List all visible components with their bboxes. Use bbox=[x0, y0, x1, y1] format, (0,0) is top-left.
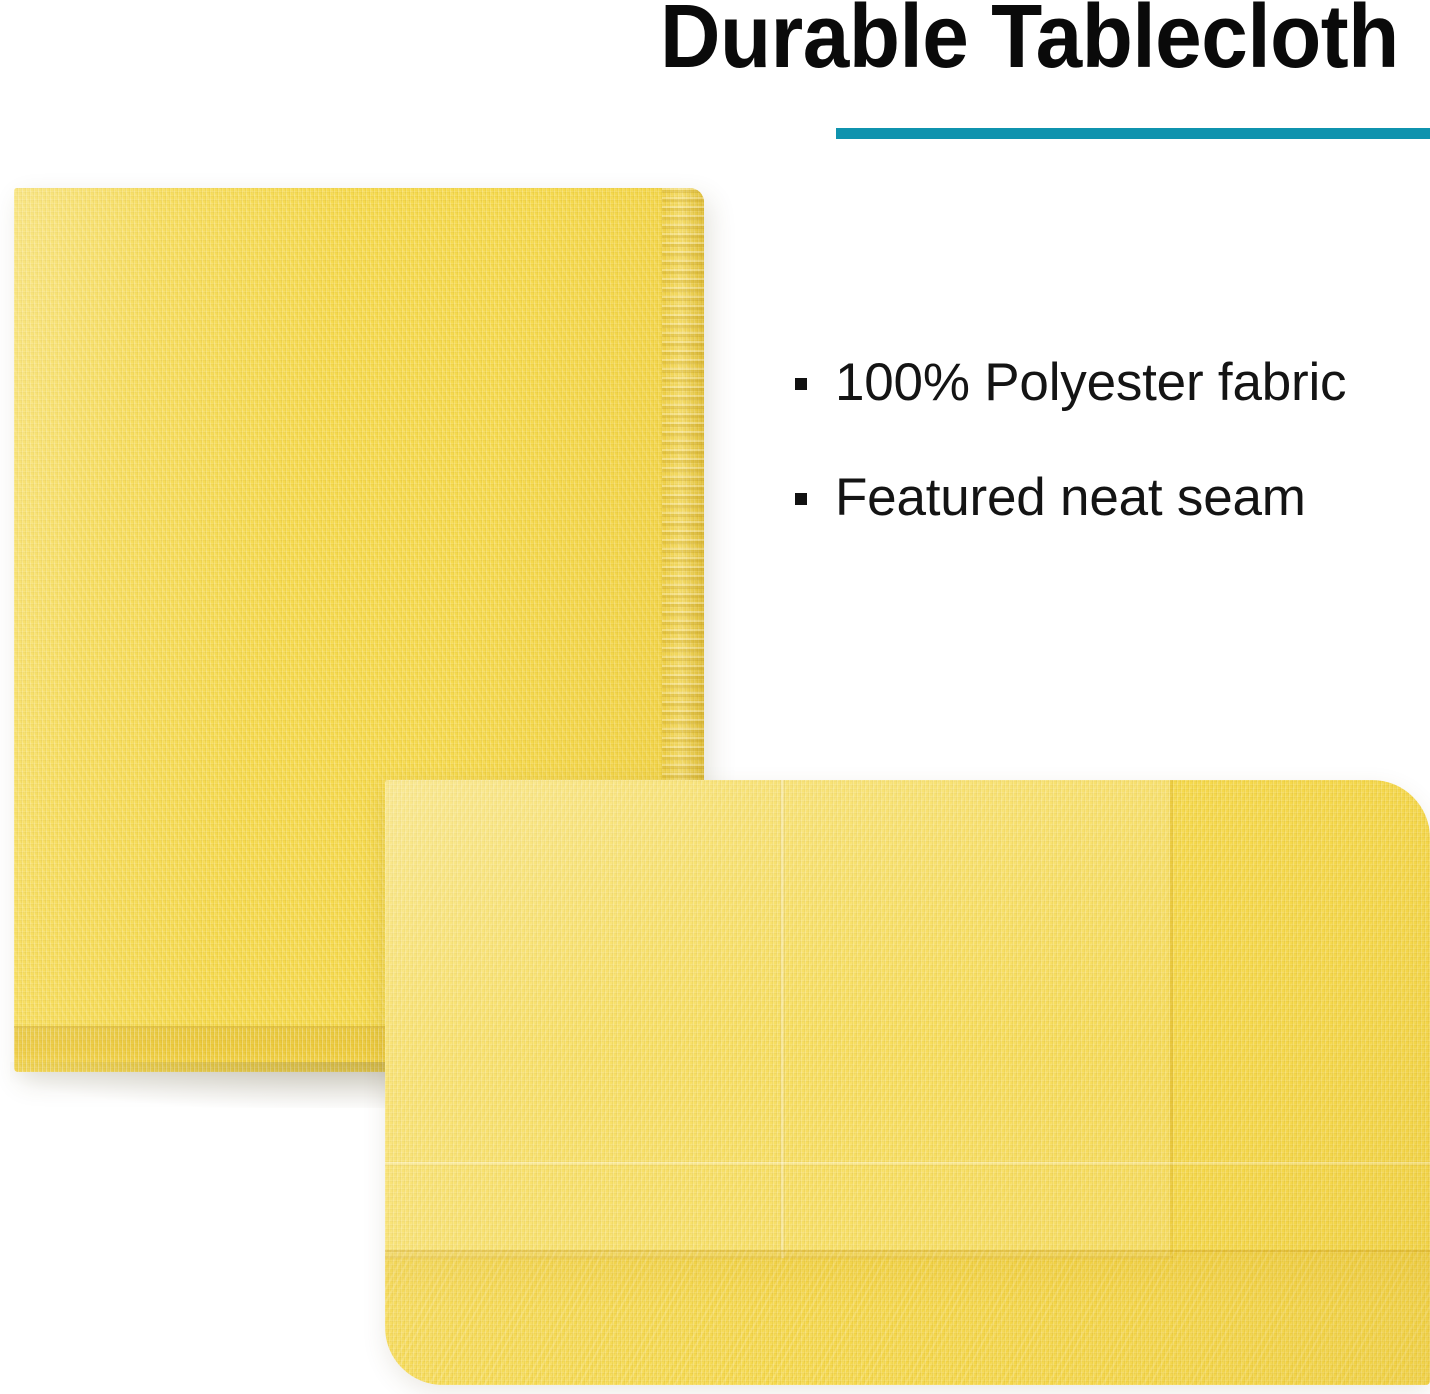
flap-horizontal-edge bbox=[385, 1256, 1173, 1260]
hem-crease-line bbox=[385, 1250, 1430, 1252]
title-divider-rule bbox=[836, 128, 1430, 139]
square-bullet-icon bbox=[795, 493, 807, 505]
feature-label: 100% Polyester fabric bbox=[835, 353, 1346, 412]
bottom-hem-band bbox=[385, 1250, 1430, 1385]
vertical-seam-line bbox=[780, 780, 785, 1258]
flat-tablecloth-image bbox=[385, 780, 1430, 1385]
feature-list: 100% Polyester fabric Featured neat seam bbox=[790, 352, 1430, 581]
horizontal-seam-line bbox=[385, 1162, 1430, 1166]
folded-corner-flap bbox=[385, 780, 1170, 1258]
list-item: Featured neat seam bbox=[790, 467, 1430, 530]
page-title: Durable Tablecloth bbox=[660, 0, 1385, 82]
fabric-sheen bbox=[385, 780, 1430, 1385]
square-bullet-icon bbox=[795, 378, 807, 390]
flap-vertical-edge bbox=[1170, 780, 1173, 1258]
product-feature-image: Durable Tablecloth 100% Polyester fabric… bbox=[0, 0, 1430, 1394]
fabric-weave-texture bbox=[385, 780, 1430, 1385]
list-item: 100% Polyester fabric bbox=[790, 352, 1430, 415]
feature-label: Featured neat seam bbox=[835, 468, 1306, 527]
